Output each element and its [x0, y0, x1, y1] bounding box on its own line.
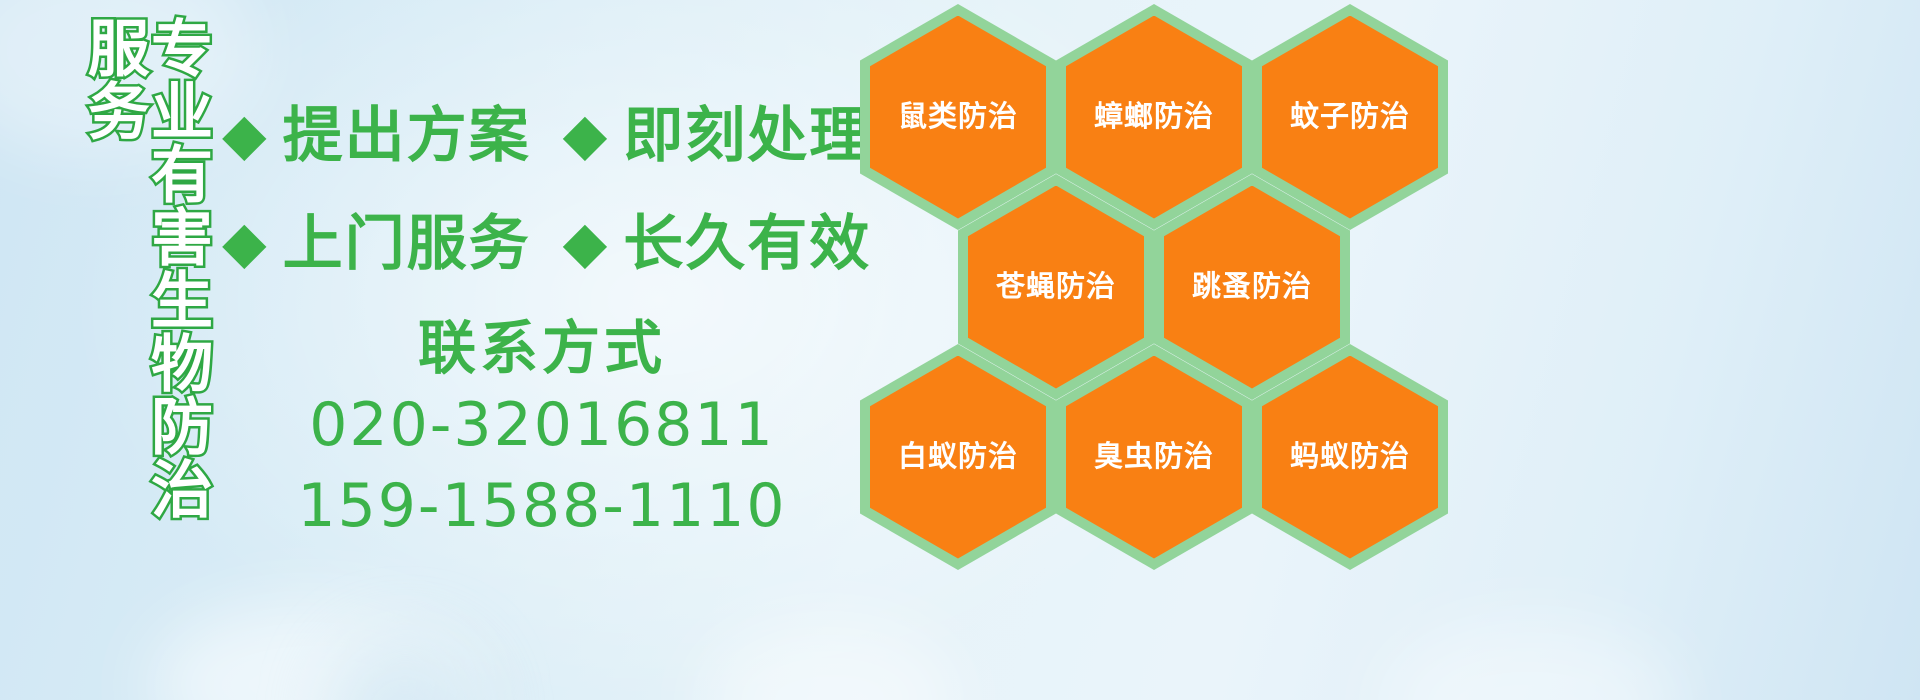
diamond-bullet-icon: ◆ — [563, 105, 608, 163]
vertical-headline: 专业有害生物防治服务 — [104, 16, 208, 556]
feature-label: 即刻处理 — [623, 106, 871, 166]
service-label: 白蚁防治 — [898, 441, 1018, 473]
feature-list: ◆ 提出方案 ◆ 即刻处理 ◆ 上门服务 ◆ 长久有效 — [222, 82, 882, 298]
feature-item-onsite: ◆ 上门服务 — [222, 214, 531, 274]
service-label: 臭虫防治 — [1094, 441, 1214, 473]
service-label: 蚊子防治 — [1290, 101, 1410, 133]
service-label: 蟑螂防治 — [1094, 101, 1214, 133]
contact-phone-landline[interactable]: 020-32016811 — [222, 385, 862, 466]
feature-item-immediate: ◆ 即刻处理 — [563, 106, 872, 166]
feature-label: 上门服务 — [283, 214, 531, 274]
contact-block: 联系方式 020-32016811 159-1588-1110 — [222, 312, 862, 547]
feature-label: 提出方案 — [283, 106, 531, 166]
hexagon-inner: 跳蚤防治 — [1164, 186, 1340, 389]
hexagon-inner: 鼠类防治 — [870, 16, 1046, 219]
diamond-bullet-icon: ◆ — [222, 213, 267, 271]
feature-label: 长久有效 — [623, 214, 871, 274]
feature-item-proposal: ◆ 提出方案 — [222, 106, 531, 166]
hexagon-inner: 蚊子防治 — [1262, 16, 1438, 219]
feature-row: ◆ 上门服务 ◆ 长久有效 — [222, 190, 882, 298]
service-label: 蚂蚁防治 — [1290, 441, 1410, 473]
service-label: 跳蚤防治 — [1192, 271, 1312, 303]
hexagon-inner: 蟑螂防治 — [1066, 16, 1242, 219]
hexagon-inner: 苍蝇防治 — [968, 186, 1144, 389]
service-label: 苍蝇防治 — [996, 271, 1116, 303]
background-glow-1 — [150, 600, 480, 700]
background-glow-2 — [330, 640, 480, 700]
service-label: 鼠类防治 — [898, 101, 1018, 133]
contact-title: 联系方式 — [222, 312, 862, 385]
hexagon-inner: 白蚁防治 — [870, 356, 1046, 559]
pest-control-banner: 专业有害生物防治服务 ◆ 提出方案 ◆ 即刻处理 ◆ 上门服务 ◆ 长久有效 — [0, 0, 1920, 700]
service-honeycomb: 鼠类防治 蟑螂防治 蚊子防治 苍蝇防治 跳蚤防治 白蚁防治 — [852, 0, 1472, 700]
hexagon-inner: 蚂蚁防治 — [1262, 356, 1438, 559]
feature-item-longlasting: ◆ 长久有效 — [563, 214, 872, 274]
diamond-bullet-icon: ◆ — [563, 213, 608, 271]
feature-row: ◆ 提出方案 ◆ 即刻处理 — [222, 82, 882, 190]
hexagon-inner: 臭虫防治 — [1066, 356, 1242, 559]
diamond-bullet-icon: ◆ — [222, 105, 267, 163]
contact-phone-mobile[interactable]: 159-1588-1110 — [222, 466, 862, 547]
